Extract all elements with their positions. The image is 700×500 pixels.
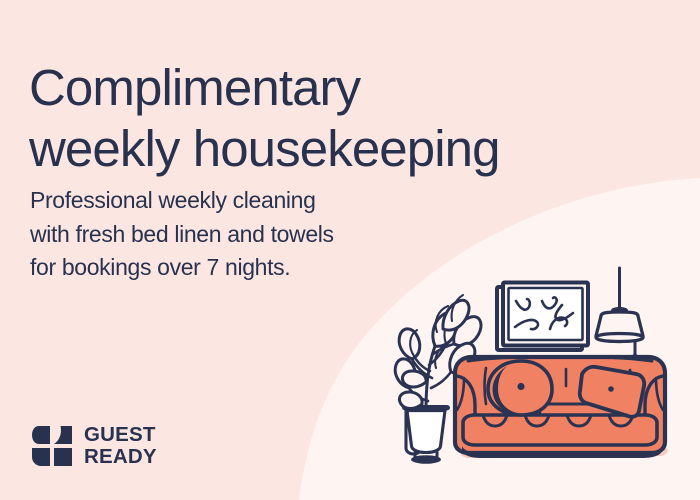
sofa xyxy=(455,357,668,459)
page-title: Complimentary weekly housekeeping xyxy=(29,57,649,179)
guestready-logo[interactable]: GUEST READY xyxy=(31,424,157,467)
guestready-wordmark: GUEST READY xyxy=(84,424,157,467)
living-room-illustration xyxy=(390,258,700,500)
round-cushion xyxy=(488,361,552,415)
pendant-lamp xyxy=(596,268,643,359)
promo-banner: Complimentary weekly housekeeping Profes… xyxy=(0,0,700,500)
guestready-quadrant-mark xyxy=(31,425,73,467)
framed-picture xyxy=(497,283,588,351)
description-text: Professional weekly cleaning with fresh … xyxy=(30,184,450,285)
